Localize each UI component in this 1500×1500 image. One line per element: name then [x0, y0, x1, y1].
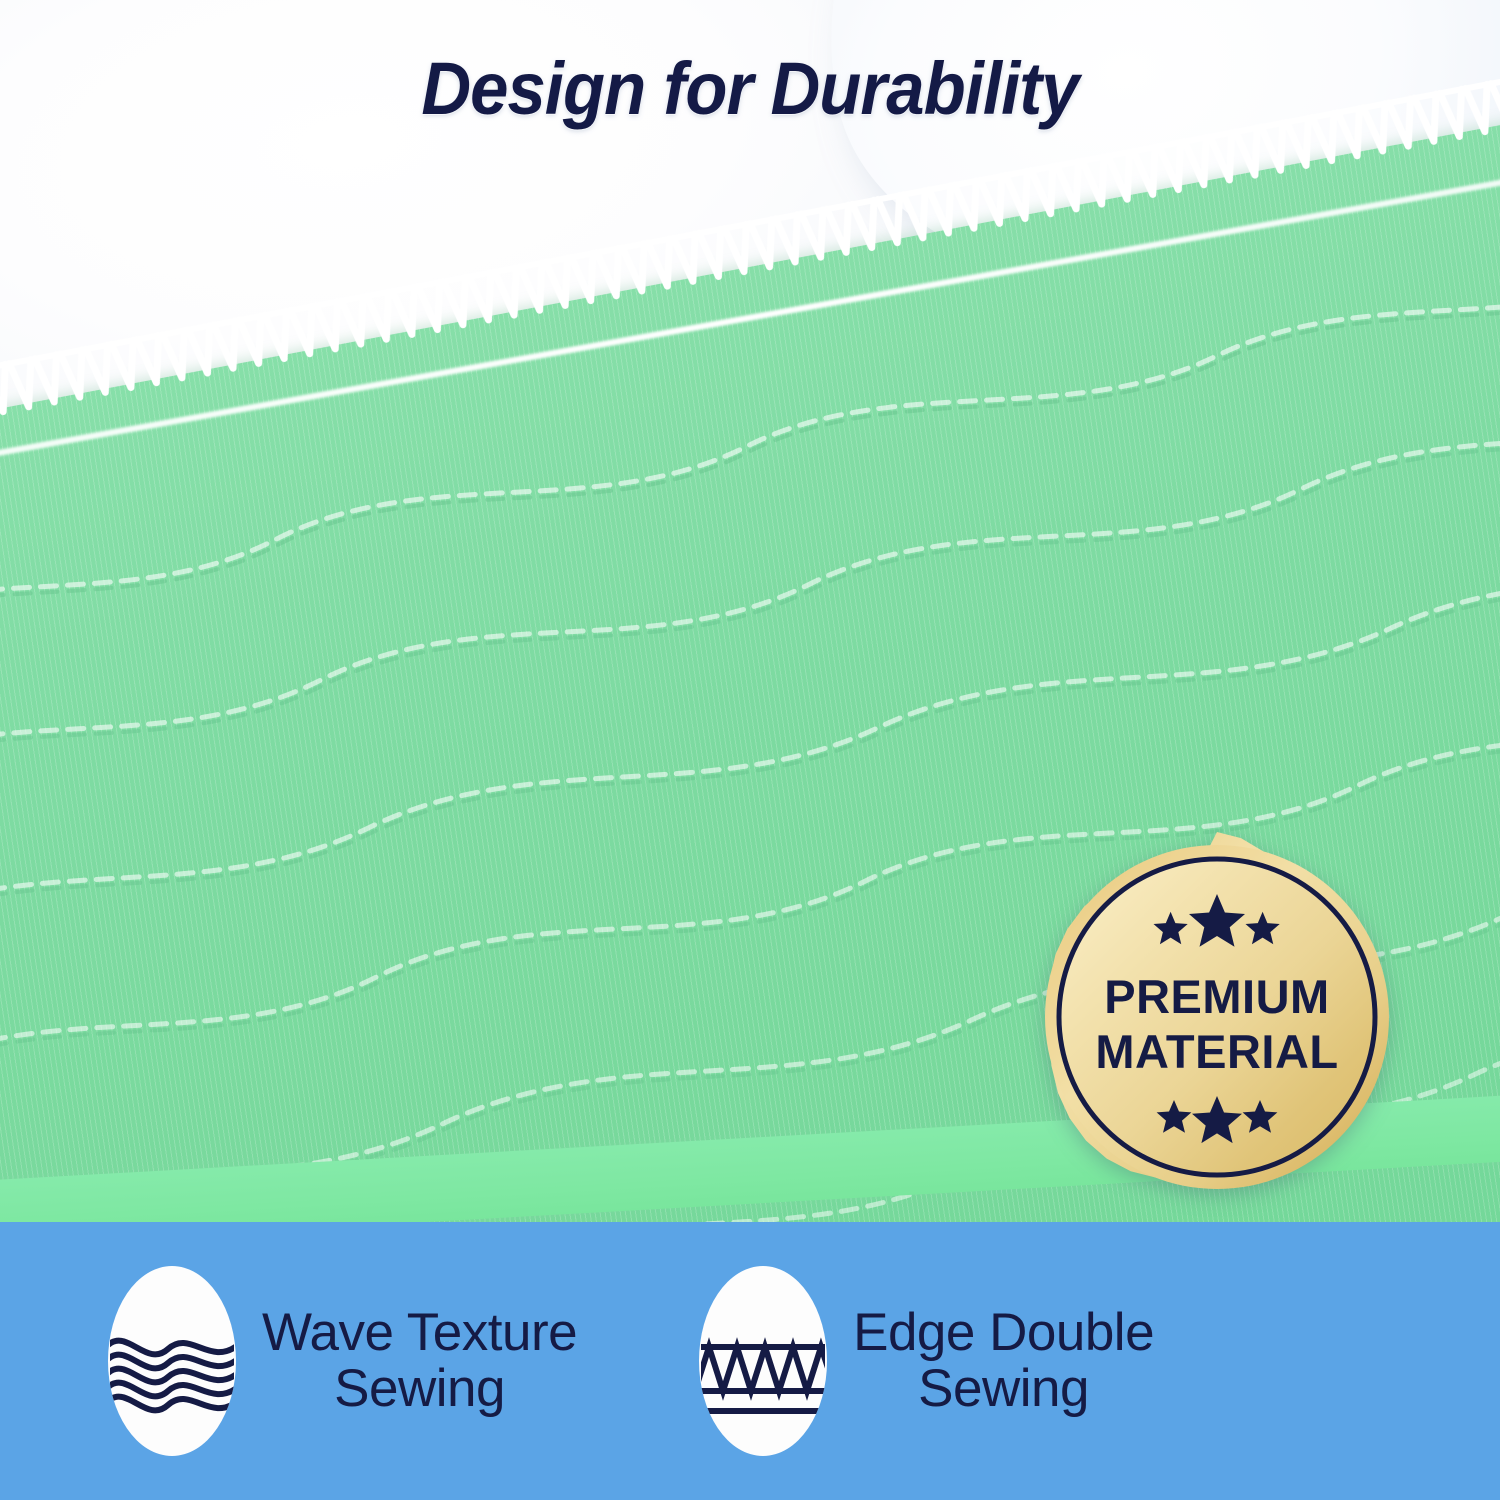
premium-material-badge[interactable]: PREMIUM MATERIAL [1028, 828, 1406, 1206]
product-infographic: PREMIUM MATERIAL Design for Durability [0, 0, 1500, 1500]
product-photo: PREMIUM MATERIAL [0, 0, 1500, 1240]
badge-line2: MATERIAL [1095, 1025, 1338, 1078]
feature-label: Wave TextureSewing [262, 1305, 577, 1417]
badge-line1: PREMIUM [1104, 970, 1329, 1023]
feature-label: Edge DoubleSewing [853, 1305, 1154, 1417]
page-title: Design for Durability [53, 46, 1448, 131]
zigzag-stitch-icon [699, 1266, 827, 1456]
feature-list: Wave TextureSewing Edge DoubleSewing [0, 1222, 1500, 1500]
wave-lines-icon [108, 1266, 236, 1456]
feature-item-wave-texture-sewing[interactable]: Wave TextureSewing [108, 1266, 577, 1456]
feature-bar: Wave TextureSewing Edge DoubleSewing [0, 1222, 1500, 1500]
feature-item-edge-double-sewing[interactable]: Edge DoubleSewing [699, 1266, 1154, 1456]
